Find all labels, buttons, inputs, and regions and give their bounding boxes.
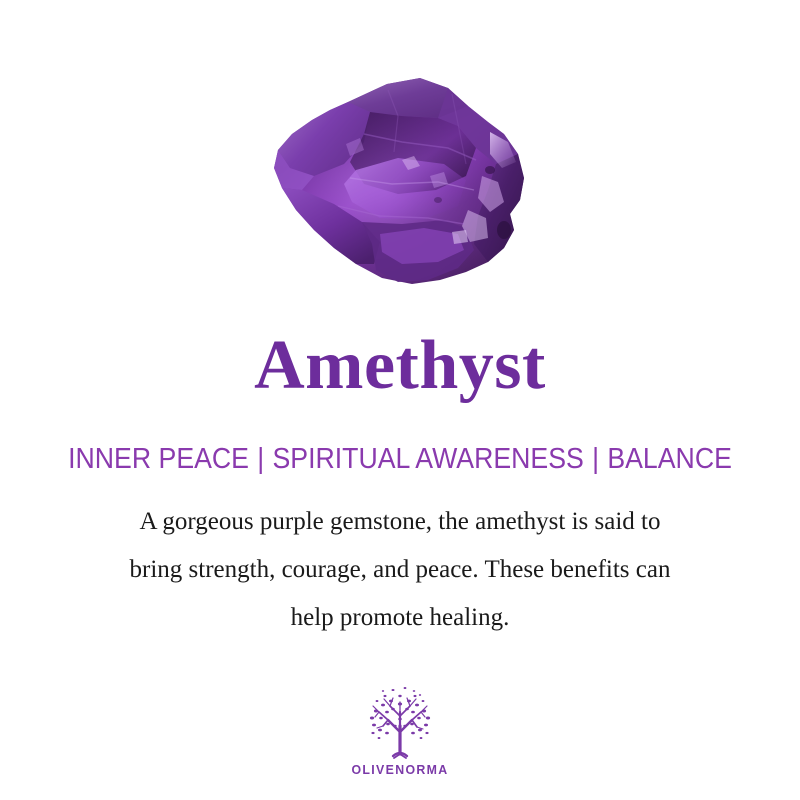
keyword-list: INNER PEACE|SPIRITUAL AWARENESS|BALANCE bbox=[32, 444, 768, 476]
keyword-inner-peace: INNER PEACE bbox=[68, 444, 249, 476]
crystal-sparkle-4 bbox=[452, 230, 468, 244]
keyword-spiritual-awareness: SPIRITUAL AWARENESS bbox=[272, 444, 583, 476]
amethyst-info-card: Amethyst INNER PEACE|SPIRITUAL AWARENESS… bbox=[0, 0, 800, 800]
description-text: A gorgeous purple gemstone, the amethyst… bbox=[50, 498, 750, 642]
page-title: Amethyst bbox=[0, 331, 800, 401]
crystal-pit-1 bbox=[485, 166, 495, 174]
crystal-pit-2 bbox=[497, 221, 511, 239]
description-line-1: A gorgeous purple gemstone, the amethyst… bbox=[50, 498, 750, 546]
description-line-2: bring strength, courage, and peace. Thes… bbox=[50, 546, 750, 594]
brand-logo[interactable]: OLIVENORMA bbox=[0, 682, 800, 777]
brand-name: OLIVENORMA bbox=[20, 762, 780, 777]
gemstone-image-area bbox=[0, 60, 800, 320]
keyword-balance: BALANCE bbox=[607, 444, 732, 476]
amethyst-crystal-image bbox=[252, 72, 562, 307]
keyword-separator: | bbox=[249, 444, 273, 476]
crystal-pit-3 bbox=[434, 197, 442, 203]
amethyst-crystal-svg bbox=[252, 72, 562, 307]
description-line-3: help promote healing. bbox=[50, 594, 750, 642]
keyword-separator: | bbox=[584, 444, 608, 476]
tree-of-life-icon bbox=[357, 682, 443, 760]
